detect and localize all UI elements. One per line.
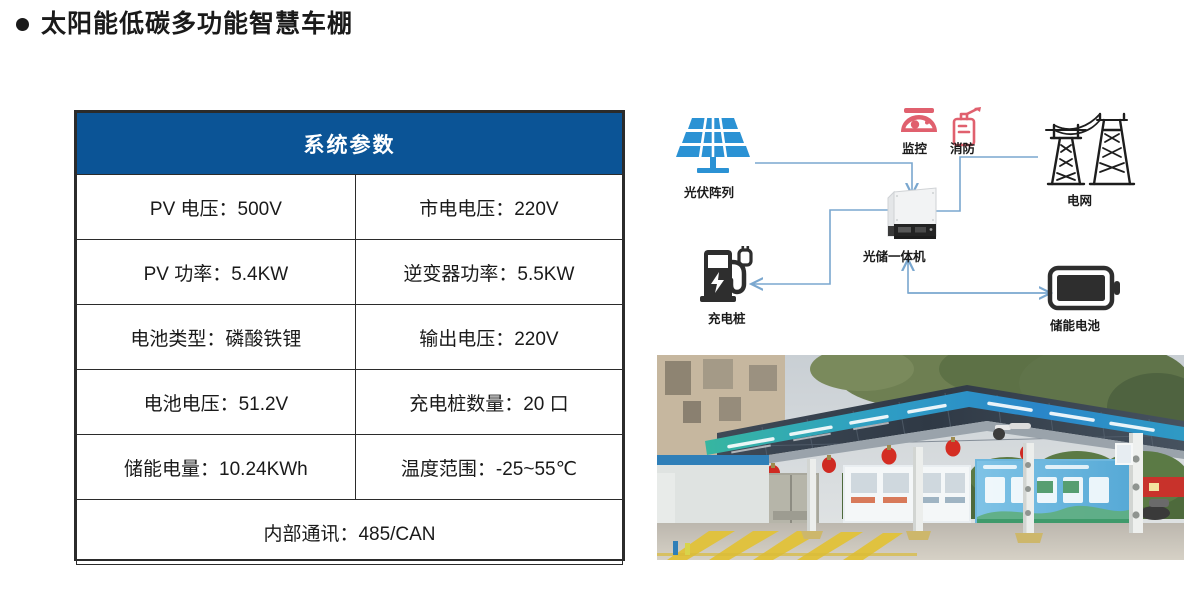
table-row: 电池类型：磷酸铁锂 输出电压：220V	[77, 305, 623, 370]
table-cell: PV 电压：500V	[77, 175, 356, 240]
battery-icon	[1050, 268, 1120, 308]
table-row: 电池电压：51.2V 充电桩数量：20 口	[77, 370, 623, 435]
table-row: PV 功率：5.4KW 逆变器功率：5.5KW	[77, 240, 623, 305]
table-cell: 市电电压：220V	[355, 175, 622, 240]
table-header-row: 系统参数	[77, 113, 623, 175]
node-label-pv-array: 光伏阵列	[684, 182, 734, 201]
table-row: 储能电量：10.24KWh 温度范围：-25~55℃	[77, 435, 623, 500]
system-flow-diagram: 光伏阵列 监控 消防 电网 光储一体机 充电桩 储能电池	[650, 100, 1190, 345]
node-label-charger: 充电桩	[708, 308, 746, 327]
slide-page: 太阳能低碳多功能智慧车棚 系统参数 PV 电压：500V 市电电压：220V P…	[0, 0, 1200, 605]
table-row: PV 电压：500V 市电电压：220V	[77, 175, 623, 240]
table-cell-footer: 内部通讯：485/CAN	[77, 500, 623, 565]
table-row: 内部通讯：485/CAN	[77, 500, 623, 565]
table-cell: 电池电压：51.2V	[77, 370, 356, 435]
node-label-battery: 储能电池	[1050, 315, 1100, 334]
node-label-monitor: 监控	[902, 138, 927, 157]
bullet-dot-icon	[16, 18, 29, 31]
cctv-camera-icon	[901, 108, 937, 132]
table-cell: 充电桩数量：20 口	[355, 370, 622, 435]
node-label-inverter: 光储一体机	[863, 246, 926, 265]
node-label-grid: 电网	[1067, 190, 1092, 209]
ev-charging-pile-icon	[700, 246, 751, 302]
table-cell: 温度范围：-25~55℃	[355, 435, 622, 500]
table-cell: 电池类型：磷酸铁锂	[77, 305, 356, 370]
power-tower-icon	[1046, 114, 1134, 184]
hybrid-inverter-icon	[888, 188, 936, 239]
table-header-cell: 系统参数	[77, 113, 623, 175]
table-cell: 输出电压：220V	[355, 305, 622, 370]
carport-photo	[657, 355, 1184, 560]
system-parameters-table: 系统参数 PV 电压：500V 市电电压：220V PV 功率：5.4KW 逆变…	[74, 110, 625, 561]
page-title: 太阳能低碳多功能智慧车棚	[16, 12, 353, 37]
page-title-text: 太阳能低碳多功能智慧车棚	[41, 12, 353, 37]
node-label-fire: 消防	[950, 138, 975, 157]
solar-panel-icon	[676, 117, 750, 173]
table-cell: 储能电量：10.24KWh	[77, 435, 356, 500]
table-cell: 逆变器功率：5.5KW	[355, 240, 622, 305]
table-cell: PV 功率：5.4KW	[77, 240, 356, 305]
